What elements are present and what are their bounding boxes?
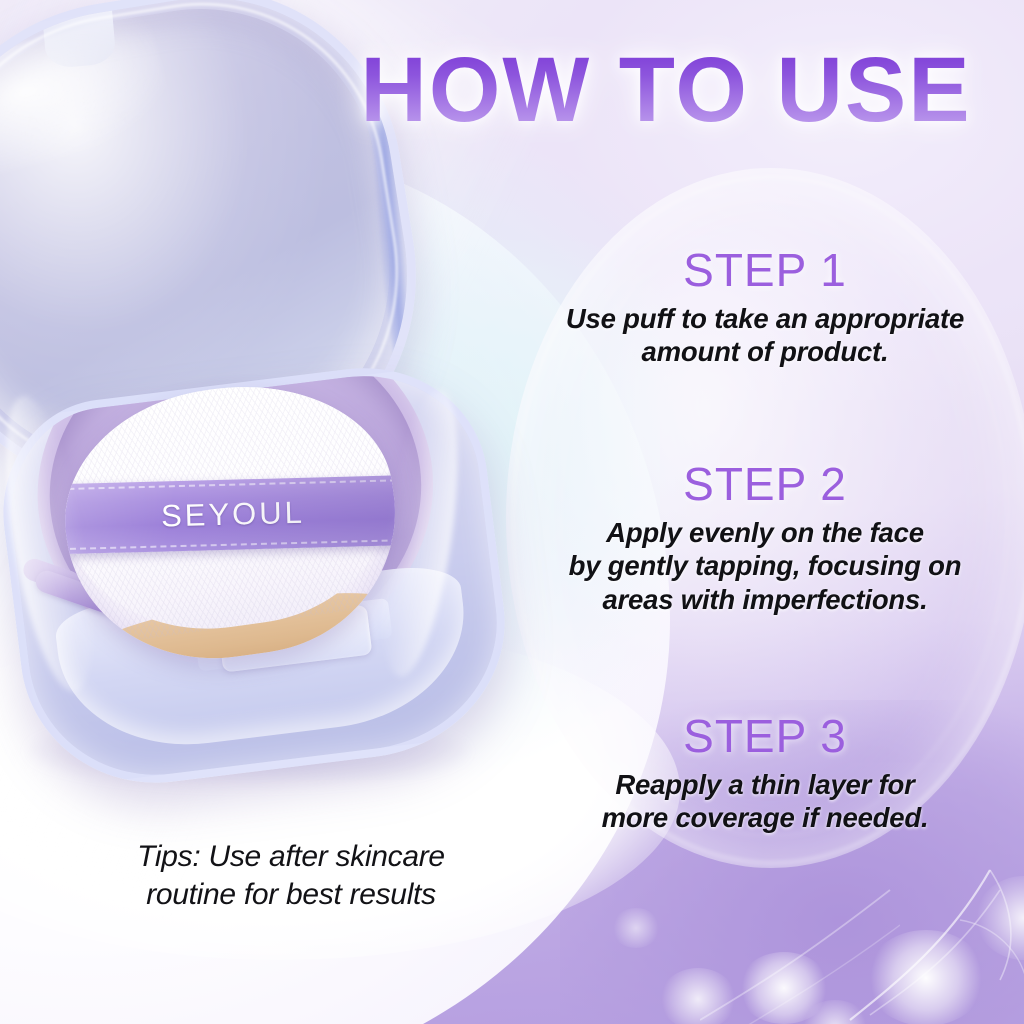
step-1-label: STEP 1 — [516, 246, 1014, 296]
step-item-2: STEP 2 Apply evenly on the face by gentl… — [516, 460, 1014, 616]
step-2-line-2: by gently tapping, focusing on — [516, 549, 1014, 583]
step-item-1: STEP 1 Use puff to take an appropriate a… — [516, 246, 1014, 369]
feather-wisp-icon-secondary — [700, 880, 900, 1024]
page-title: HOW TO USE — [316, 44, 1016, 136]
bokeh-glow — [866, 930, 986, 1024]
step-2-description: Apply evenly on the face by gently tappi… — [516, 516, 1014, 617]
step-item-3: STEP 3 Reapply a thin layer for more cov… — [516, 712, 1014, 835]
bokeh-glow — [976, 876, 1024, 960]
powder-puff: SEYOUL — [49, 366, 413, 677]
ribbon-shading — [49, 475, 413, 555]
infographic-canvas: SEYOUL HOW TO USE STEP 1 Use puff to tak… — [0, 0, 1024, 1024]
tips-line-1: Tips: Use after skincare — [86, 838, 496, 876]
bokeh-glow — [738, 952, 830, 1024]
bokeh-glow — [612, 908, 660, 948]
step-3-line-2: more coverage if needed. — [516, 801, 1014, 835]
step-2-label: STEP 2 — [516, 460, 1014, 510]
step-3-label: STEP 3 — [516, 712, 1014, 762]
puff-brand-ribbon: SEYOUL — [49, 475, 413, 555]
tips-note: Tips: Use after skincare routine for bes… — [86, 838, 496, 915]
step-2-line-3: areas with imperfections. — [516, 583, 1014, 617]
tips-line-2: routine for best results — [86, 876, 496, 914]
step-1-line-2: amount of product. — [516, 335, 1014, 369]
feather-wisp-icon — [840, 830, 1024, 1024]
bokeh-glow — [800, 1000, 870, 1024]
bokeh-glow — [660, 968, 736, 1024]
step-1-description: Use puff to take an appropriate amount o… — [516, 302, 1014, 369]
step-3-description: Reapply a thin layer for more coverage i… — [516, 768, 1014, 835]
step-3-line-1: Reapply a thin layer for — [516, 768, 1014, 802]
step-2-line-1: Apply evenly on the face — [516, 516, 1014, 550]
step-1-line-1: Use puff to take an appropriate — [516, 302, 1014, 336]
